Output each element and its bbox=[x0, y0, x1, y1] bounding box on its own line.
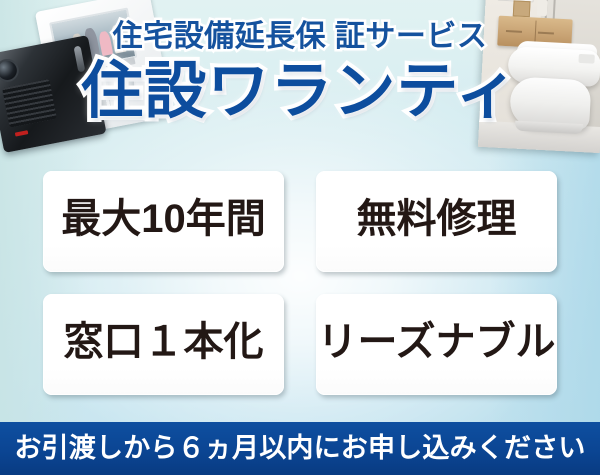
promo-banner: 住宅設備延長保 証サービス 住設ワランティ 最大10年間 無料修理 窓口１本化 … bbox=[0, 0, 600, 475]
shelf-vase bbox=[537, 0, 548, 16]
feature-card-free-repair: 無料修理 bbox=[316, 171, 557, 272]
feature-label: 無料修理 bbox=[357, 197, 517, 241]
feature-card-max-term: 最大10年間 bbox=[43, 171, 284, 272]
feature-label: 最大10年間 bbox=[61, 197, 266, 241]
application-deadline-text: お引渡しから６ヵ月以内にお申し込みください bbox=[14, 433, 585, 463]
feature-label: 窓口１本化 bbox=[64, 320, 264, 364]
feature-card-single-contact: 窓口１本化 bbox=[43, 294, 284, 395]
page-title: 住設ワランティ bbox=[0, 56, 600, 128]
feature-card-reasonable: リーズナブル bbox=[316, 294, 557, 395]
shelf-box bbox=[513, 0, 531, 17]
door-station-call-button bbox=[15, 130, 29, 136]
feature-grid: 最大10年間 無料修理 窓口１本化 リーズナブル bbox=[43, 171, 557, 395]
application-deadline-bar: お引渡しから６ヵ月以内にお申し込みください bbox=[0, 422, 600, 475]
feature-label: リーズナブル bbox=[318, 320, 556, 364]
service-subtitle: 住宅設備延長保 証サービス bbox=[0, 19, 600, 55]
